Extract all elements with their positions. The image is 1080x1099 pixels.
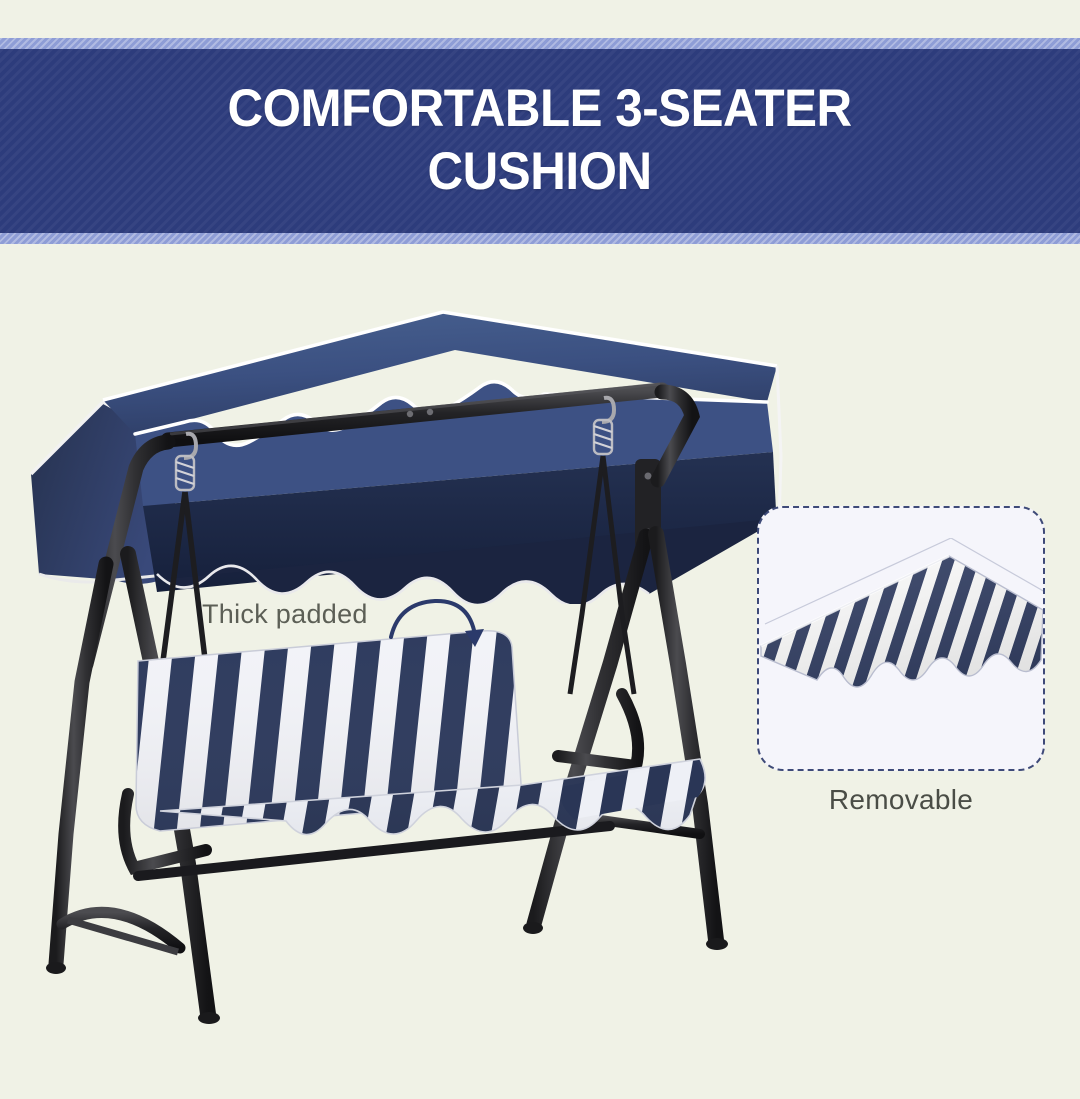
banner-body: COMFORTABLE 3-SEATER CUSHION (0, 49, 1080, 233)
thick-padded-label: Thick padded (202, 599, 368, 630)
product-scene: Thick padded (0, 244, 1080, 1080)
banner-title: COMFORTABLE 3-SEATER CUSHION (228, 78, 852, 203)
banner-top-edge-stripe (0, 38, 1080, 49)
curved-arrow-down-right-icon (385, 589, 495, 664)
folded-striped-cushion-pad-icon (757, 538, 1045, 768)
header-banner: COMFORTABLE 3-SEATER CUSHION (0, 38, 1080, 244)
removable-inset-card (757, 506, 1045, 771)
removable-label: Removable (757, 784, 1045, 816)
banner-bottom-edge-stripe (0, 233, 1080, 244)
